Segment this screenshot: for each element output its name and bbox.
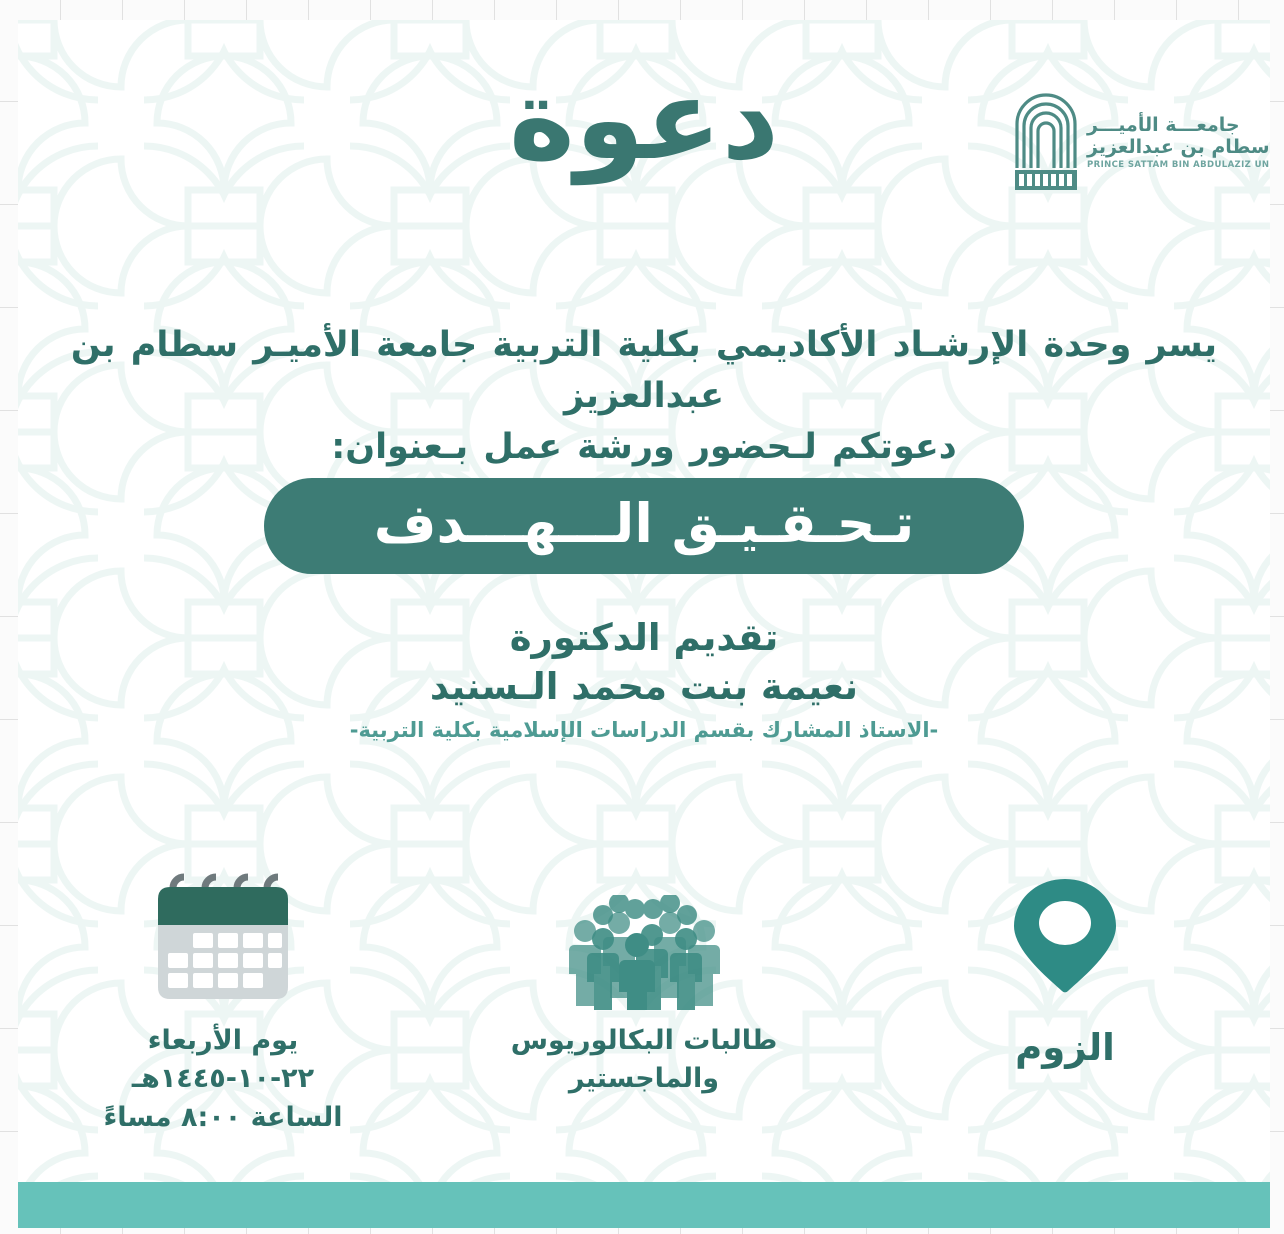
presenter-block: تقديم الدكتورة نعيمة بنت محمد الـسنيد -ا… bbox=[18, 614, 1270, 742]
event-hijri-date: ٢٢-١٠-١٤٤٥هـ bbox=[103, 1060, 342, 1098]
presenter-affiliation: -الاستاذ المشارك بقسم الدراسات الإسلامية… bbox=[18, 718, 1270, 742]
event-date-column: يوم الأربعاء ٢٢-١٠-١٤٤٥هـ الساعة ٨:٠٠ مس… bbox=[58, 860, 388, 1137]
footer-accent-bar bbox=[18, 1182, 1270, 1228]
logo-arabic-line-2: سطام بن عبدالعزيز bbox=[1087, 136, 1270, 158]
event-place-text: الزوم bbox=[1015, 1022, 1115, 1075]
university-logo: جامعـــة الأميـــر سطام بن عبدالعزيز PRI… bbox=[1013, 82, 1233, 202]
map-pin-icon-wrapper bbox=[1010, 860, 1120, 1010]
event-date-text: يوم الأربعاء ٢٢-١٠-١٤٤٥هـ الساعة ٨:٠٠ مس… bbox=[103, 1022, 342, 1137]
people-group-icon bbox=[557, 895, 732, 1010]
intro-line-2: دعوتكم لـحضور ورشة عمل بـعنوان: bbox=[36, 422, 1252, 473]
event-place-column: الزوم bbox=[900, 860, 1230, 1075]
event-time: الساعة ٨:٠٠ مساءً bbox=[103, 1099, 342, 1137]
workshop-title: تـحـقـيـق الـــهـــدف bbox=[264, 478, 1024, 574]
workshop-title-banner: تـحـقـيـق الـــهـــدف bbox=[18, 478, 1270, 574]
logo-english-line: PRINCE SATTAM BIN ABDULAZIZ UNIVERSITY bbox=[1087, 160, 1270, 170]
event-day: يوم الأربعاء bbox=[103, 1022, 342, 1060]
people-icon-wrapper bbox=[557, 860, 732, 1010]
event-audience-label: طالبات البكالوريوس والماجستير bbox=[479, 1022, 809, 1099]
mosque-arch-icon bbox=[1013, 90, 1079, 194]
calendar-icon bbox=[148, 865, 298, 1010]
invitation-intro-text: يسر وحدة الإرشـاد الأكاديمي بكلية التربي… bbox=[36, 320, 1252, 472]
calendar-icon-wrapper bbox=[148, 860, 298, 1010]
logo-arabic-line-1: جامعـــة الأميـــر bbox=[1087, 114, 1240, 136]
event-audience-column: طالبات البكالوريوس والماجستير bbox=[479, 860, 809, 1099]
university-logo-wordmark: جامعـــة الأميـــر سطام بن عبدالعزيز PRI… bbox=[1087, 114, 1270, 171]
map-pin-icon bbox=[1010, 875, 1120, 995]
presenter-name: نعيمة بنت محمد الـسنيد bbox=[18, 662, 1270, 712]
event-details-row: يوم الأربعاء ٢٢-١٠-١٤٤٥هـ الساعة ٨:٠٠ مس… bbox=[58, 860, 1230, 1130]
invitation-poster: دعوة bbox=[18, 20, 1270, 1228]
poster-header: دعوة bbox=[18, 20, 1270, 250]
event-place-label: الزوم bbox=[1015, 1022, 1115, 1075]
presenter-role: تقديم الدكتورة bbox=[18, 614, 1270, 662]
intro-line-1: يسر وحدة الإرشـاد الأكاديمي بكلية التربي… bbox=[36, 320, 1252, 422]
event-audience-text: طالبات البكالوريوس والماجستير bbox=[479, 1022, 809, 1099]
page-canvas: دعوة bbox=[0, 0, 1284, 1234]
